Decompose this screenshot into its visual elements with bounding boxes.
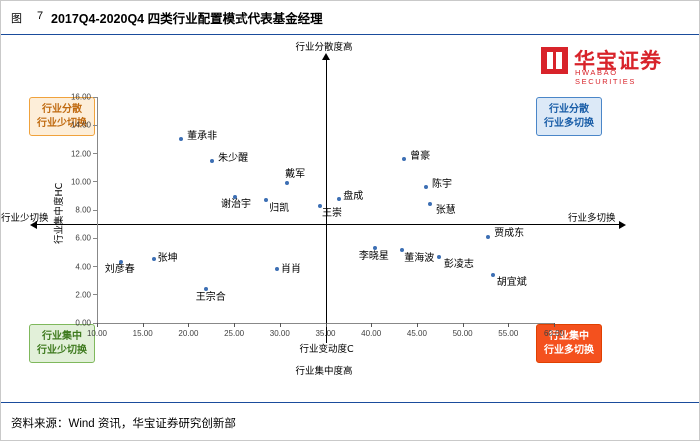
y-axis-tick xyxy=(93,181,97,182)
scatter-point xyxy=(491,273,495,277)
scatter-point xyxy=(152,257,156,261)
x-axis-arrow-left-icon xyxy=(30,221,37,229)
scatter-point-label: 王崇 xyxy=(322,204,342,219)
y-axis-tick xyxy=(93,97,97,98)
y-axis-arrow-icon xyxy=(322,53,330,60)
x-axis-tick-label: 45.00 xyxy=(407,329,427,338)
scatter-point xyxy=(437,255,441,259)
x-axis-tick-label: 10.00 xyxy=(87,329,107,338)
x-axis-title: 行业变动度C xyxy=(300,341,354,355)
y-axis-tick-label: 6.00 xyxy=(61,234,91,243)
x-axis-tick xyxy=(97,323,98,327)
scatter-point xyxy=(210,159,214,163)
x-axis-tick xyxy=(280,323,281,327)
scatter-point-label: 归凯 xyxy=(269,199,289,214)
y-axis-tick-label: 12.00 xyxy=(61,149,91,158)
axis-caption-right: 行业多切换 xyxy=(568,210,616,224)
source-note: 资料来源：Wind 资讯，华宝证券研究创新部 xyxy=(11,415,236,431)
scatter-point-label: 陈宇 xyxy=(432,175,452,190)
scatter-point-label: 董海波 xyxy=(404,249,434,264)
x-axis-tick-label: 35.00 xyxy=(315,329,335,338)
y-axis-tick xyxy=(93,210,97,211)
axis-caption-left: 行业少切换 xyxy=(1,210,49,224)
x-axis-tick xyxy=(417,323,418,327)
logo-name-en: HWABAO SECURITIES xyxy=(575,68,681,86)
scatter-point-label: 曾豪 xyxy=(410,147,430,162)
page-title: 2017Q4-2020Q4 四类行业配置模式代表基金经理 xyxy=(51,8,323,27)
x-axis-tick-label: 50.00 xyxy=(453,329,473,338)
y-axis-baseline xyxy=(97,97,98,323)
figure-footer: 资料来源：Wind 资讯，华宝证券研究创新部 xyxy=(1,402,699,440)
x-axis-tick xyxy=(554,323,555,327)
scatter-point xyxy=(402,157,406,161)
y-axis-tick xyxy=(93,153,97,154)
scatter-point-label: 王宗合 xyxy=(196,288,226,303)
axis-caption-bottom: 行业集中度高 xyxy=(296,363,353,377)
scatter-point-label: 董承非 xyxy=(187,127,217,142)
x-axis-tick-label: 55.00 xyxy=(498,329,518,338)
x-axis-tick xyxy=(326,323,327,327)
scatter-point-label: 胡宜斌 xyxy=(497,273,527,288)
x-axis-tick xyxy=(463,323,464,327)
scatter-point-label: 盘成 xyxy=(343,187,363,202)
y-axis-tick-label: 16.00 xyxy=(61,93,91,102)
scatter-point xyxy=(285,181,289,185)
axis-caption-top: 行业分散度高 xyxy=(296,39,353,53)
brand-logo: 华宝证券 HWABAO SECURITIES xyxy=(541,45,681,79)
scatter-point-label: 彭凌志 xyxy=(444,255,474,270)
scatter-point-label: 朱少醒 xyxy=(218,149,248,164)
figure-header: 图 7 2017Q4-2020Q4 四类行业配置模式代表基金经理 ↵ xyxy=(1,1,699,35)
figure-page: 图 7 2017Q4-2020Q4 四类行业配置模式代表基金经理 ↵ 华宝证券 … xyxy=(0,0,700,441)
y-axis-tick-label: 0.00 xyxy=(61,319,91,328)
y-axis-tick xyxy=(93,323,97,324)
scatter-point xyxy=(337,197,341,201)
y-axis-tick xyxy=(93,294,97,295)
y-axis-line xyxy=(326,59,327,343)
y-axis-tick-label: 8.00 xyxy=(61,206,91,215)
scatter-point xyxy=(428,202,432,206)
y-axis-tick-label: 14.00 xyxy=(61,121,91,130)
scatter-plot: 10.0015.0020.0025.0030.0035.0040.0045.00… xyxy=(97,97,554,323)
x-axis-tick-label: 25.00 xyxy=(224,329,244,338)
x-axis-tick-label: 15.00 xyxy=(133,329,153,338)
x-axis-line xyxy=(37,224,619,225)
scatter-point xyxy=(179,137,183,141)
x-axis-tick xyxy=(234,323,235,327)
paragraph-mark-icon: ↵ xyxy=(239,13,247,24)
x-axis-tick-label: 40.00 xyxy=(361,329,381,338)
quadrant-label-bottom-left: 行业集中行业少切换 xyxy=(29,324,95,363)
scatter-point xyxy=(486,235,490,239)
figure-label: 图 xyxy=(11,10,23,26)
scatter-point-label: 戴军 xyxy=(285,165,305,180)
quadrant-label-top-left: 行业分散行业少切换 xyxy=(29,97,95,136)
x-axis-tick-label: 60.00 xyxy=(544,329,564,338)
scatter-point-label: 贾成东 xyxy=(494,224,524,239)
scatter-point xyxy=(424,185,428,189)
x-axis-tick xyxy=(508,323,509,327)
scatter-point-label: 张坤 xyxy=(158,249,178,264)
x-axis-tick xyxy=(371,323,372,327)
x-axis-tick-label: 30.00 xyxy=(270,329,290,338)
scatter-point-label: 肖肖 xyxy=(281,260,301,275)
logo-mark-icon xyxy=(541,47,568,74)
scatter-point-label: 李晓星 xyxy=(359,247,389,262)
y-axis-tick-label: 2.00 xyxy=(61,290,91,299)
x-axis-tick xyxy=(188,323,189,327)
y-axis-tick-label: 4.00 xyxy=(61,262,91,271)
y-axis-tick-label: 10.00 xyxy=(61,177,91,186)
scatter-point xyxy=(264,198,268,202)
figure-number: 7 xyxy=(37,10,43,22)
y-axis-tick xyxy=(93,125,97,126)
x-axis-arrow-icon xyxy=(619,221,626,229)
scatter-point-label: 谢治宇 xyxy=(221,195,251,210)
x-axis-tick-label: 20.00 xyxy=(178,329,198,338)
y-axis-tick xyxy=(93,266,97,267)
scatter-point-label: 刘彦春 xyxy=(105,260,135,275)
scatter-point xyxy=(275,267,279,271)
y-axis-tick xyxy=(93,238,97,239)
scatter-point-label: 张慧 xyxy=(436,201,456,216)
x-axis-tick xyxy=(143,323,144,327)
